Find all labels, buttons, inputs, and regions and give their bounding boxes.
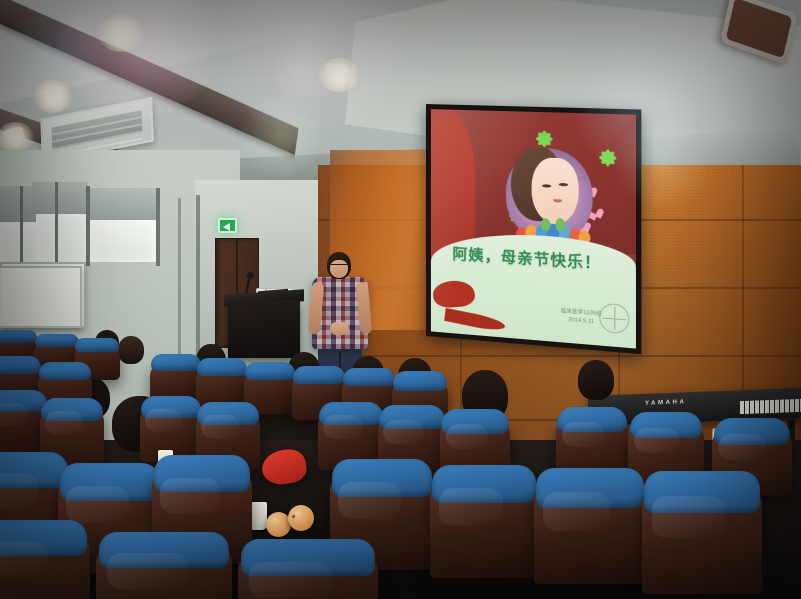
portrait-eye-right: [559, 183, 568, 187]
microphone-icon: [247, 272, 254, 279]
mother-illustration: [506, 143, 593, 243]
pillar-edge-inner: [178, 198, 181, 363]
spotlight-3: [98, 14, 144, 52]
exit-arrow-icon: [223, 223, 230, 231]
projection-screen: 阿姨，母亲节快乐！ 临床医学1105班 2014.5.11: [426, 104, 641, 354]
whiteboard-left-2: [0, 266, 82, 328]
window-mid: [36, 214, 92, 262]
vent-louvers: [51, 110, 142, 150]
glasses-icon: [330, 264, 348, 269]
podium: [228, 300, 300, 358]
window-mullion-a: [20, 186, 23, 264]
piano-keys[interactable]: [740, 399, 801, 414]
window-right: [90, 220, 156, 262]
seat[interactable]: [534, 486, 646, 584]
audience-member: [118, 336, 144, 364]
window-blind-mid: [32, 182, 88, 214]
portrait-mouth: [553, 199, 561, 203]
audience-member: [578, 360, 614, 400]
seat[interactable]: [642, 490, 762, 594]
window-blind-right: [88, 188, 158, 222]
flower-icon-2: [599, 149, 616, 166]
window-mullion-d: [156, 188, 160, 266]
exit-sign: [218, 218, 237, 233]
seat[interactable]: [96, 548, 232, 599]
spotlight-2: [33, 80, 73, 113]
slide-surface: 阿姨，母亲节快乐！ 临床医学1105班 2014.5.11: [431, 109, 636, 348]
seat[interactable]: [238, 556, 378, 599]
presenter-hands: [330, 322, 349, 335]
spotlight-4: [318, 58, 360, 92]
seat[interactable]: [0, 536, 90, 599]
slide-credit: 临床医学1105班 2014.5.11: [561, 307, 602, 327]
presenter-face: [330, 260, 348, 278]
pillar-edge-left: [196, 195, 200, 365]
window-mullion-c: [86, 186, 90, 266]
portrait-eye-left: [542, 184, 551, 188]
apple-2[interactable]: [288, 505, 314, 531]
seat[interactable]: [430, 482, 538, 578]
lecture-hall-photo: 阿姨，母亲节快乐！ 临床医学1105班 2014.5.11: [0, 0, 801, 599]
window-mullion-b: [55, 182, 58, 262]
